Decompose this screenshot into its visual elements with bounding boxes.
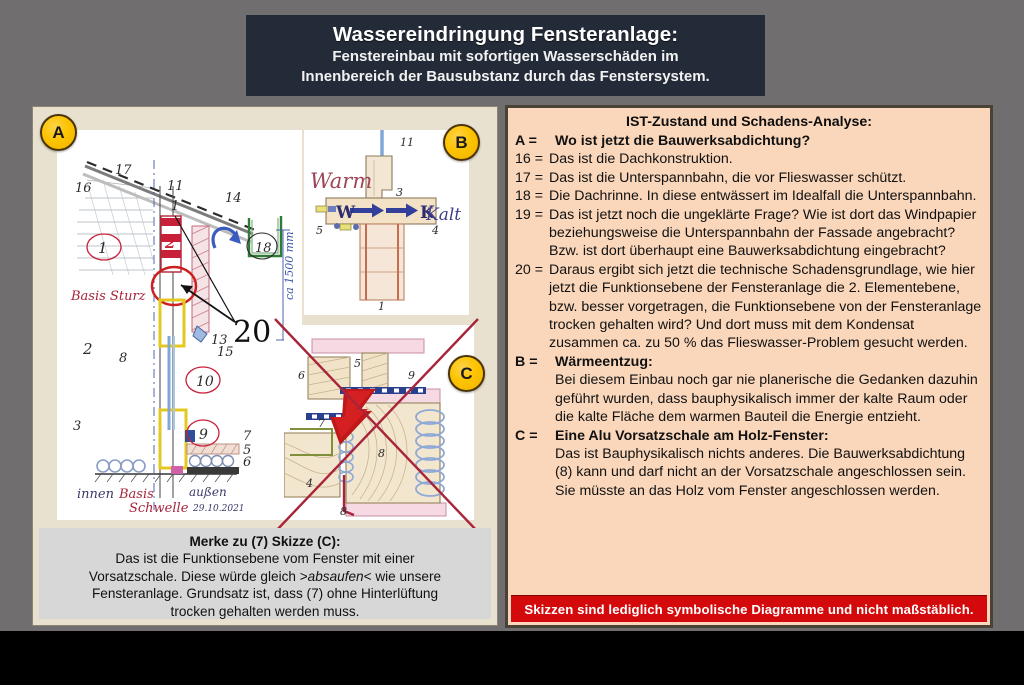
svg-text:17: 17 [115,163,132,178]
svg-text:Basis: Basis [118,487,154,502]
analysis-item-text: Das ist Bauphysikalisch nichts anderes. … [555,445,983,500]
badge-c[interactable]: C [448,355,485,392]
svg-text:Kalt: Kalt [425,205,461,225]
analysis-item-text: Eine Alu Vorsatzschale am Holz-Fenster: [549,427,983,445]
analysis-item: 19 =Das ist jetzt noch die ungeklärte Fr… [515,206,983,261]
title-line-3: Innenbereich der Bausubstanz durch das F… [246,67,765,87]
analysis-item-key: B = [515,353,549,371]
merke-title: Merke zu (7) Skizze (C): [47,533,483,550]
badge-a[interactable]: A [40,114,77,151]
svg-text:2: 2 [82,340,93,358]
analysis-item-key: A = [515,132,549,150]
bottom-black-band [0,631,1024,685]
svg-text:8: 8 [119,351,127,366]
svg-text:9: 9 [199,427,208,443]
disclaimer-banner: Skizzen sind lediglich symbolische Diagr… [511,595,987,622]
analysis-item-text: Das ist die Unterspannbahn, die vor Flie… [549,169,983,187]
analysis-item-key: C = [515,427,549,445]
page-title: Wassereindringung Fensteranlage: Fenster… [246,15,765,96]
screenshot-root: Wassereindringung Fensteranlage: Fenster… [0,0,1024,685]
analysis-item: 18 =Die Dachrinne. In diese entwässert i… [515,187,983,205]
sketch-c-cladding-detail-drawing: 5 6 9 7 8 4 8 [284,325,474,520]
title-line-1: Wassereindringung Fensteranlage: [246,22,765,47]
svg-text:Schwelle: Schwelle [129,501,189,516]
analysis-item-text: Die Dachrinne. In diese entwässert im Id… [549,187,983,205]
svg-text:7: 7 [318,417,325,430]
sketch-panel: 2 [33,107,497,625]
analysis-item-text: Bei diesem Einbau noch gar nie planerisc… [555,371,983,426]
svg-text:3: 3 [73,419,81,434]
svg-text:4: 4 [431,224,439,237]
merke-line-2: Vorsatzschale. Diese würde gleich >absau… [47,568,483,586]
analysis-item-text: Das ist jetzt noch die ungeklärte Frage?… [549,206,983,261]
svg-text:1: 1 [98,239,108,257]
svg-text:15: 15 [217,345,234,360]
svg-text:9: 9 [408,369,415,382]
svg-text:8: 8 [340,505,347,518]
analysis-item-text: Das ist die Dachkonstruktion. [549,150,983,168]
svg-text:6: 6 [243,455,251,470]
analysis-item-key: 17 = [515,169,549,187]
analysis-panel: IST-Zustand und Schadens-Analyse: A =Wo … [505,105,993,628]
svg-text:6: 6 [298,369,305,382]
svg-text:8: 8 [378,447,385,460]
analysis-item-text: Wärmeentzug: [549,353,983,371]
analysis-item: Bei diesem Einbau noch gar nie planerisc… [515,371,983,426]
sketch-panel-inner: 2 [39,113,491,619]
analysis-item: 16 =Das ist die Dachkonstruktion. [515,150,983,168]
svg-text:7: 7 [243,429,252,444]
svg-text:ca 1500 mm: ca 1500 mm [283,231,296,300]
sketch-b-heat-flow-drawing: W K Warm Kalt [304,130,469,315]
svg-text:Basis Sturz: Basis Sturz [70,289,146,304]
analysis-item-key: 20 = [515,261,549,279]
analysis-item: B =Wärmeentzug: [515,353,983,371]
analysis-item: 17 =Das ist die Unterspannbahn, die vor … [515,169,983,187]
svg-text:4: 4 [305,477,313,490]
svg-text:14: 14 [225,191,242,206]
svg-text:2: 2 [164,234,175,252]
svg-text:10: 10 [196,374,214,390]
sketch-c-svg: 5 6 9 7 8 4 8 [284,325,474,520]
merke-line-2-post: < wie unsere [364,569,441,584]
merke-line-1: Das ist die Funktionsebene vom Fenster m… [47,550,483,568]
svg-text:außen: außen [189,485,227,499]
sketch-a-svg: 2 [57,130,302,520]
svg-text:1: 1 [171,199,179,214]
svg-text:innen: innen [77,487,114,502]
analysis-item-text: Daraus ergibt sich jetzt die technische … [549,261,983,353]
svg-text:3: 3 [396,186,403,199]
svg-text:29.10.2021: 29.10.2021 [192,504,245,514]
sketch-a-window-section-drawing: 2 [57,130,302,520]
merke-line-2-pre: Vorsatzschale. Diese würde gleich > [89,569,308,584]
merke-line-4: trocken gehalten werden muss. [47,603,483,621]
analysis-item-text: Wo ist jetzt die Bauwerksabdichtung? [549,132,983,150]
svg-text:11: 11 [167,179,184,194]
merke-line-2-italic: absaufen [308,569,364,584]
analysis-rows: A =Wo ist jetzt die Bauwerksabdichtung?1… [515,132,983,500]
analysis-item: C =Eine Alu Vorsatzschale am Holz-Fenste… [515,427,983,445]
analysis-heading: IST-Zustand und Schadens-Analyse: [515,113,983,131]
svg-text:16: 16 [75,181,92,196]
sketch-b-svg: W K Warm Kalt [304,130,469,315]
svg-text:5: 5 [354,357,361,370]
analysis-item: A =Wo ist jetzt die Bauwerksabdichtung? [515,132,983,150]
merke-note: Merke zu (7) Skizze (C): Das ist die Fun… [39,528,491,619]
merke-line-3: Fensteranlage. Grundsatz ist, dass (7) o… [47,585,483,603]
svg-text:W: W [335,203,356,223]
analysis-item: 20 =Daraus ergibt sich jetzt die technis… [515,261,983,353]
analysis-item-key: 18 = [515,187,549,205]
svg-text:20: 20 [233,315,271,350]
svg-text:Warm: Warm [310,169,372,193]
badge-b[interactable]: B [443,124,480,161]
svg-text:18: 18 [255,241,272,256]
title-line-2: Fenstereinbau mit sofortigen Wasserschäd… [246,47,765,67]
svg-text:5: 5 [316,224,323,237]
svg-text:1: 1 [378,300,385,313]
svg-text:11: 11 [400,136,414,149]
analysis-item: Das ist Bauphysikalisch nichts anderes. … [515,445,983,500]
analysis-item-key: 16 = [515,150,549,168]
analysis-item-key: 19 = [515,206,549,224]
